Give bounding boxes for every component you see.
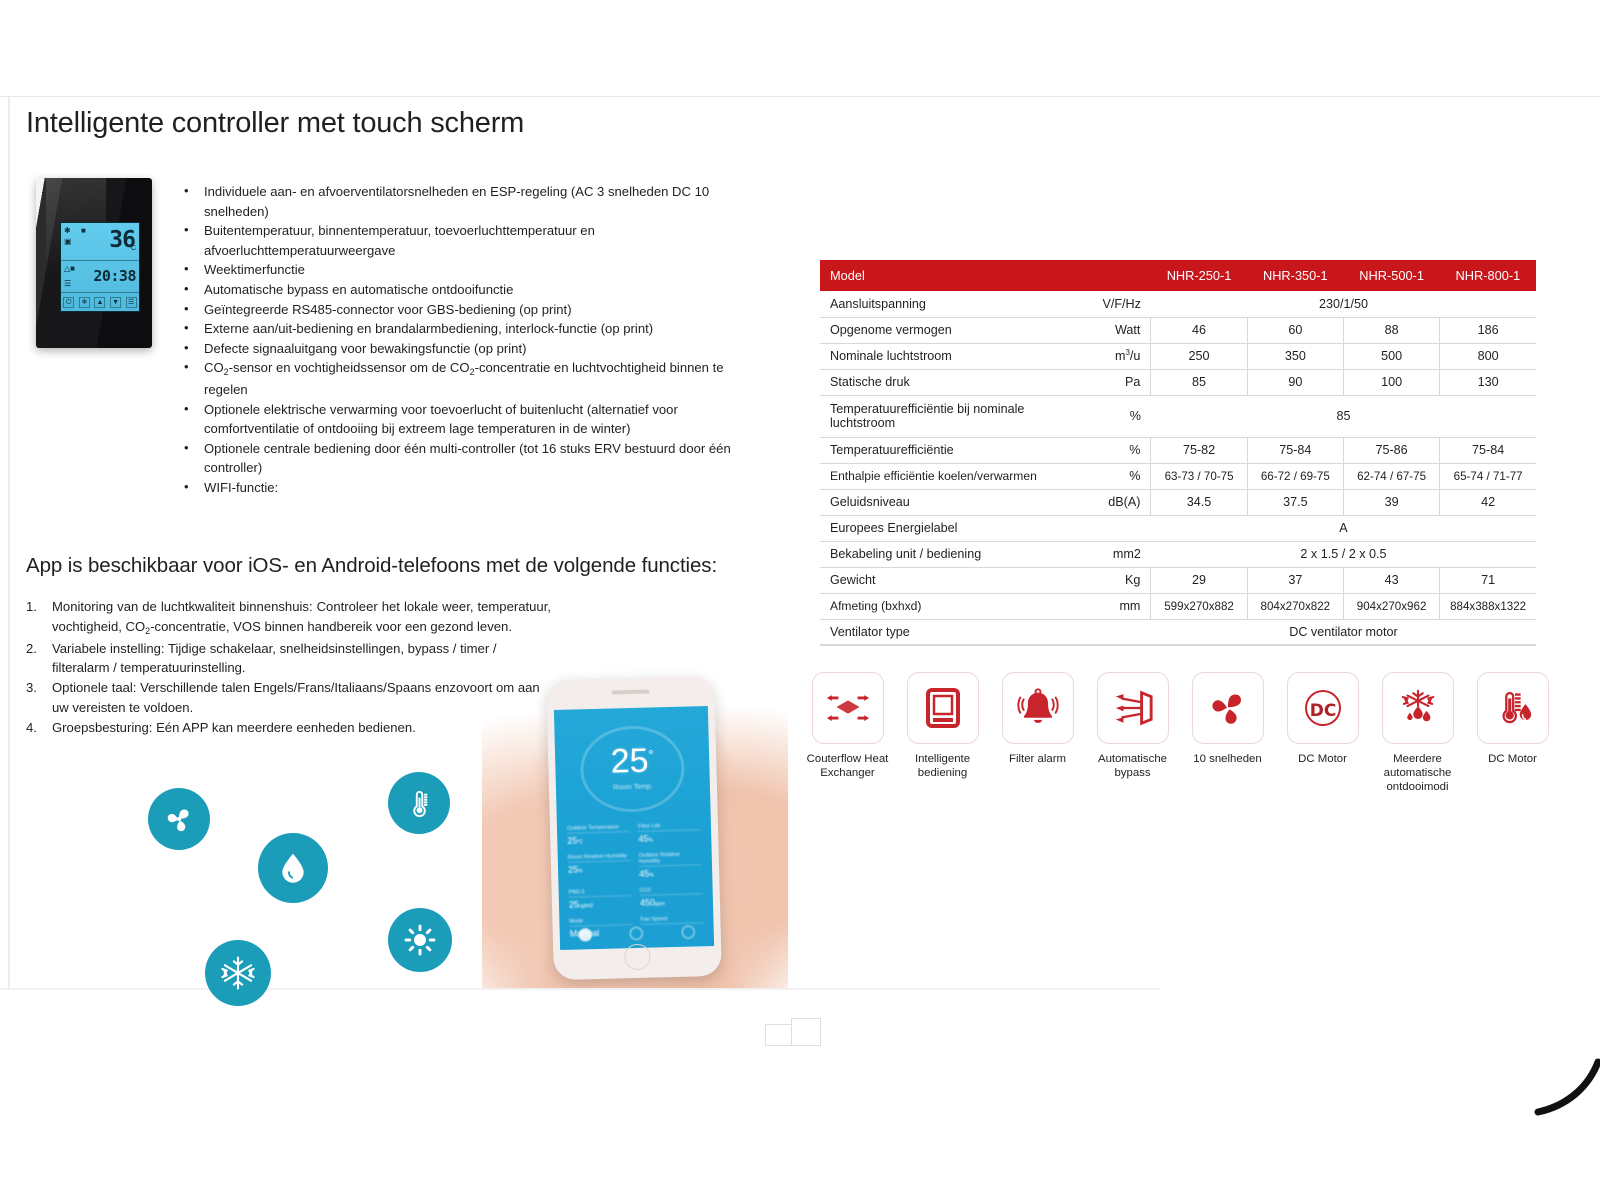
row-unit: Watt — [1089, 317, 1151, 343]
row-label: Temperatuurefficiëntie — [820, 437, 1089, 463]
row-value: 800 — [1440, 343, 1536, 369]
row-value: 186 — [1440, 317, 1536, 343]
row-value: 88 — [1343, 317, 1439, 343]
table-row: Europees EnergielabelA — [820, 515, 1536, 541]
feature-label: Automatische bypass — [1085, 752, 1180, 780]
row-label: Temperatuurefficiëntie bij nominale luch… — [820, 395, 1089, 437]
smart-control-panel-icon — [907, 672, 979, 744]
app-tabbar[interactable] — [559, 920, 714, 946]
app-reading-label: Filter Life — [638, 822, 701, 832]
app-temperature: 25° — [572, 740, 693, 782]
app-phone-photo: 25° Room Temp. Outdoor Temperature25°CFi… — [482, 668, 788, 988]
row-label: Gewicht — [820, 567, 1089, 593]
counterflow-heat-exchanger-icon — [812, 672, 884, 744]
list-number: 3. — [26, 678, 46, 698]
row-value: 350 — [1247, 343, 1343, 369]
table-row: Enthalpie efficiëntie koelen/verwarmen%6… — [820, 463, 1536, 489]
fan-icon — [148, 788, 210, 850]
row-value: 43 — [1343, 567, 1439, 593]
controller-feature-item: Optionele elektrische verwarming voor to… — [180, 400, 760, 439]
lcd-filter-glyph: ☰ — [64, 279, 71, 288]
dc-motor-icon: DC — [1287, 672, 1359, 744]
page-thumbnail-icon — [765, 1018, 821, 1048]
list-number: 2. — [26, 639, 46, 659]
row-label: Statische druk — [820, 369, 1089, 395]
table-header: Model NHR-250-1 NHR-350-1 NHR-500-1 NHR-… — [820, 260, 1536, 291]
row-value: 75-84 — [1440, 437, 1536, 463]
row-value: 42 — [1440, 489, 1536, 515]
app-feature-item: 2.Variabele instelling: Tijdige schakela… — [26, 639, 551, 679]
row-value-span: 230/1/50 — [1151, 291, 1536, 317]
app-reading: PM2.525ug/m3 — [569, 888, 633, 910]
app-reading-label: Outdoor Temperature — [567, 824, 630, 834]
controller-feature-item: Optionele centrale bediening door één mu… — [180, 439, 760, 478]
row-label: Bekabeling unit / bediening — [820, 541, 1089, 567]
row-value-span: A — [1151, 515, 1536, 541]
feature-label: DC Motor — [1465, 752, 1560, 766]
phone-earpiece — [611, 690, 649, 695]
row-value: 37 — [1247, 567, 1343, 593]
row-value: 130 — [1440, 369, 1536, 395]
lcd-menu-button[interactable]: ☰ — [126, 297, 137, 308]
fan-blades-icon — [1192, 672, 1264, 744]
sun-icon — [388, 908, 452, 972]
specifications-table: Model NHR-250-1 NHR-350-1 NHR-500-1 NHR-… — [820, 260, 1536, 646]
controller-feature-item: Buitentemperatuur, binnentemperatuur, to… — [180, 221, 760, 260]
controller-feature-item: Defecte signaaluitgang voor bewakingsfun… — [180, 339, 760, 359]
row-unit: dB(A) — [1089, 489, 1151, 515]
app-reading: Filter Life45% — [638, 822, 702, 844]
app-reading-value: 25% — [568, 863, 631, 875]
feature-item: DC Motor — [1465, 672, 1560, 794]
table-row: Ventilator typeDC ventilator motor — [820, 619, 1536, 645]
app-reading: Outdoor Temperature25°C — [567, 824, 631, 846]
lcd-down-button[interactable]: ▼ — [110, 297, 121, 308]
row-value: 804x270x822 — [1247, 593, 1343, 619]
row-unit: % — [1089, 395, 1151, 437]
smartphone: 25° Room Temp. Outdoor Temperature25°CFi… — [546, 676, 722, 980]
lcd-temperature-unit: °C — [128, 245, 136, 252]
feature-item: DCDC Motor — [1275, 672, 1370, 794]
row-value: 75-82 — [1151, 437, 1247, 463]
tab-settings[interactable] — [681, 925, 694, 938]
brochure-page: Intelligente controller met touch scherm… — [0, 0, 1600, 1200]
controller-feature-item: Automatische bypass en automatische ontd… — [180, 280, 760, 300]
app-feature-item: 4.Groepsbesturing: Eén APP kan meerdere … — [26, 718, 551, 738]
app-reading-label: CO2 — [640, 886, 703, 896]
row-value: 34.5 — [1151, 489, 1247, 515]
feature-label: DC Motor — [1275, 752, 1370, 766]
row-unit: Kg — [1089, 567, 1151, 593]
row-label: Enthalpie efficiëntie koelen/verwarmen — [820, 463, 1089, 489]
app-reading-value: 45% — [639, 867, 702, 879]
row-unit: mm — [1089, 593, 1151, 619]
controller-feature-list: Individuele aan- en afvoerventilatorsnel… — [180, 182, 760, 498]
decorative-swoosh — [1480, 1054, 1600, 1164]
feature-label: Couterflow Heat Exchanger — [800, 752, 895, 780]
row-unit: m3/u — [1089, 343, 1151, 369]
row-value: 599x270x882 — [1151, 593, 1247, 619]
row-unit — [1089, 619, 1151, 645]
lcd-mode-glyph: ■ — [81, 226, 86, 235]
row-unit — [1089, 515, 1151, 541]
feature-label: Intelligente bediening — [895, 752, 990, 780]
row-value: 39 — [1343, 489, 1439, 515]
feature-item: Couterflow Heat Exchanger — [800, 672, 895, 794]
feature-item: Automatische bypass — [1085, 672, 1180, 794]
row-value: 60 — [1247, 317, 1343, 343]
header-model-label: Model — [820, 260, 1089, 291]
row-unit: mm2 — [1089, 541, 1151, 567]
controller-feature-item: Weektimerfunctie — [180, 260, 760, 280]
app-feature-item: 1.Monitoring van de luchtkwaliteit binne… — [26, 597, 551, 639]
row-value: 62-74 / 67-75 — [1343, 463, 1439, 489]
app-reading-value: 25°C — [567, 834, 630, 846]
row-unit: % — [1089, 463, 1151, 489]
table-header-row: Model NHR-250-1 NHR-350-1 NHR-500-1 NHR-… — [820, 260, 1536, 291]
table-body: AansluitspanningV/F/Hz230/1/50Opgenome v… — [820, 291, 1536, 645]
header-unit — [1089, 260, 1151, 291]
row-value: 75-84 — [1247, 437, 1343, 463]
row-value: 63-73 / 70-75 — [1151, 463, 1247, 489]
tab-home[interactable] — [579, 928, 592, 941]
row-value: 85 — [1151, 369, 1247, 395]
app-feature-item: 3.Optionele taal: Verschillende talen En… — [26, 678, 551, 718]
row-label: Europees Energielabel — [820, 515, 1089, 541]
table-row: Opgenome vermogenWatt466088186 — [820, 317, 1536, 343]
thermometer-icon — [388, 772, 450, 834]
controller-feature-item: WIFI-functie: — [180, 478, 760, 498]
row-value: 66-72 / 69-75 — [1247, 463, 1343, 489]
auto-bypass-icon — [1097, 672, 1169, 744]
device-lcd-screen: ✱ ■ ▣ 36 °C △■ ☰ 20:38 ⏻ ❄ ▲ ▼ ☰ — [60, 222, 140, 312]
app-reading-label: Room Relative Humidity — [568, 853, 631, 863]
app-reading-label: Outdoor Relative Humidity — [639, 851, 702, 867]
table-row: AansluitspanningV/F/Hz230/1/50 — [820, 291, 1536, 317]
row-value: 65-74 / 71-77 — [1440, 463, 1536, 489]
table-row: GewichtKg29374371 — [820, 567, 1536, 593]
controller-feature-item: Geïntegreerde RS485-connector voor GBS-b… — [180, 300, 760, 320]
row-label: Aansluitspanning — [820, 291, 1089, 317]
list-number: 1. — [26, 597, 46, 617]
lcd-clock: 20:38 — [93, 267, 136, 285]
controller-feature-item: CO2-sensor en vochtigheidssensor om de C… — [180, 358, 760, 399]
lcd-fan-glyph: ✱ — [64, 226, 71, 235]
app-reading-label: PM2.5 — [569, 888, 632, 898]
lcd-house-glyph: △■ — [64, 264, 75, 273]
feature-item: Meerdere automatische ontdooimodi — [1370, 672, 1465, 794]
defrost-snowflake-drop-icon — [1382, 672, 1454, 744]
row-value: 46 — [1151, 317, 1247, 343]
lcd-up-button[interactable]: ▲ — [94, 297, 105, 308]
phone-home-button[interactable] — [624, 944, 651, 971]
row-value: 250 — [1151, 343, 1247, 369]
feature-label: Meerdere automatische ontdooimodi — [1370, 752, 1465, 794]
feature-icon-strip: Couterflow Heat ExchangerIntelligente be… — [800, 672, 1560, 794]
feature-item: 10 snelheden — [1180, 672, 1275, 794]
tab-control[interactable] — [630, 926, 643, 939]
left-page-edge — [8, 97, 10, 988]
touch-controller-photo: ✱ ■ ▣ 36 °C △■ ☰ 20:38 ⏻ ❄ ▲ ▼ ☰ — [36, 178, 152, 348]
header-model-3: NHR-800-1 — [1440, 260, 1536, 291]
app-feature-list: 1.Monitoring van de luchtkwaliteit binne… — [26, 597, 551, 738]
svg-text:DC: DC — [1309, 701, 1336, 721]
app-reading-value: 25ug/m3 — [569, 898, 632, 910]
row-value: 37.5 — [1247, 489, 1343, 515]
row-value: 884x388x1322 — [1440, 593, 1536, 619]
table-row: Temperatuurefficiëntie bij nominale luch… — [820, 395, 1536, 437]
row-value: 29 — [1151, 567, 1247, 593]
header-model-0: NHR-250-1 — [1151, 260, 1247, 291]
feature-label: Filter alarm — [990, 752, 1085, 766]
feature-item: Filter alarm — [990, 672, 1085, 794]
app-section-title: App is beschikbaar voor iOS- en Android-… — [26, 554, 717, 578]
app-screen: 25° Room Temp. Outdoor Temperature25°CFi… — [554, 706, 714, 950]
top-divider — [0, 96, 1600, 97]
row-label: Nominale luchtstroom — [820, 343, 1089, 369]
row-value: 500 — [1343, 343, 1439, 369]
table-row: GeluidsniveaudB(A)34.537.53942 — [820, 489, 1536, 515]
row-label: Ventilator type — [820, 619, 1089, 645]
controller-feature-item: Externe aan/uit-bediening en brandalarmb… — [180, 319, 760, 339]
app-reading: Room Relative Humidity25% — [568, 853, 632, 881]
table-row: Statische drukPa8590100130 — [820, 369, 1536, 395]
app-reading-value: 45% — [638, 832, 701, 844]
row-value: 71 — [1440, 567, 1536, 593]
row-value: 904x270x962 — [1343, 593, 1439, 619]
row-value: 75-86 — [1343, 437, 1439, 463]
lcd-status-glyph: ▣ — [64, 237, 72, 246]
thermometer-humidity-icon — [1477, 672, 1549, 744]
list-number: 4. — [26, 718, 46, 738]
page-title: Intelligente controller met touch scherm — [26, 107, 524, 140]
row-value-span: 85 — [1151, 395, 1536, 437]
row-unit: Pa — [1089, 369, 1151, 395]
row-label: Afmeting (bxhxd) — [820, 593, 1089, 619]
lcd-fan-button[interactable]: ❄ — [79, 297, 90, 308]
water-drop-icon — [258, 833, 328, 903]
table-row: Nominale luchtstroomm3/u250350500800 — [820, 343, 1536, 369]
app-reading: Outdoor Relative Humidity45% — [639, 851, 703, 879]
row-unit: V/F/Hz — [1089, 291, 1151, 317]
row-unit: % — [1089, 437, 1151, 463]
table-row: Bekabeling unit / bedieningmm22 x 1.5 / … — [820, 541, 1536, 567]
row-value-span: DC ventilator motor — [1151, 619, 1536, 645]
table-row: Temperatuurefficiëntie%75-8275-8475-8675… — [820, 437, 1536, 463]
lcd-power-button[interactable]: ⏻ — [63, 297, 74, 308]
controller-feature-item: Individuele aan- en afvoerventilatorsnel… — [180, 182, 760, 221]
table-row: Afmeting (bxhxd)mm599x270x882804x270x822… — [820, 593, 1536, 619]
row-label: Geluidsniveau — [820, 489, 1089, 515]
header-model-2: NHR-500-1 — [1343, 260, 1439, 291]
feature-item: Intelligente bediening — [895, 672, 990, 794]
content-bottom-divider — [0, 988, 1160, 990]
app-reading-value: 450ppm — [640, 896, 703, 908]
snowflake-icon — [205, 940, 271, 1006]
header-model-1: NHR-350-1 — [1247, 260, 1343, 291]
bell-alarm-icon — [1002, 672, 1074, 744]
row-value: 100 — [1343, 369, 1439, 395]
row-value-span: 2 x 1.5 / 2 x 0.5 — [1151, 541, 1536, 567]
feature-label: 10 snelheden — [1180, 752, 1275, 766]
row-label: Opgenome vermogen — [820, 317, 1089, 343]
row-value: 90 — [1247, 369, 1343, 395]
app-reading: CO2450ppm — [640, 886, 704, 908]
